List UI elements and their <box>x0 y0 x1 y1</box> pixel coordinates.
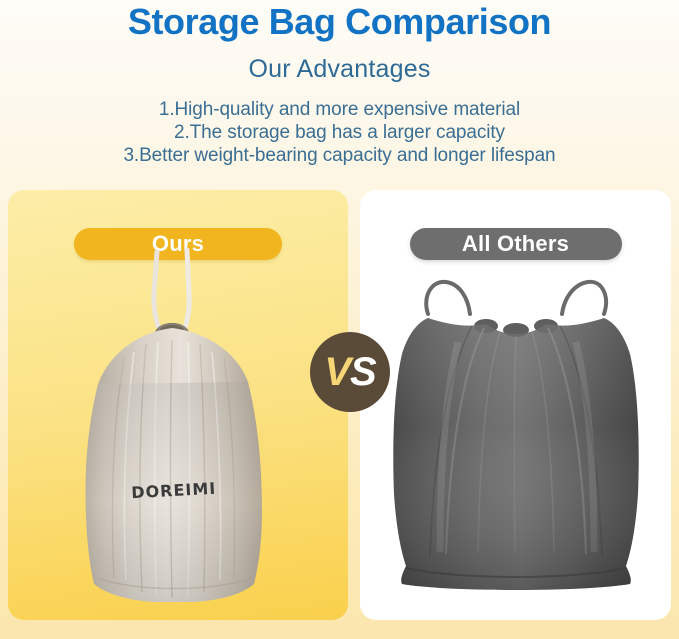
page-subtitle: Our Advantages <box>0 40 679 82</box>
versus-letter-v: V <box>324 350 350 395</box>
panel-ours: Ours <box>8 190 348 620</box>
page-title: Storage Bag Comparison <box>0 0 679 40</box>
versus-badge: V S <box>310 332 390 412</box>
advantage-item-2: 2.The storage bag has a larger capacity <box>0 121 679 144</box>
all-others-storage-bag-image <box>388 262 644 612</box>
panel-all-others: All Others <box>360 190 671 620</box>
comparison-infographic: Storage Bag Comparison Our Advantages 1.… <box>0 0 679 639</box>
versus-letter-s: S <box>350 350 376 395</box>
advantages-list: 1.High-quality and more expensive materi… <box>0 82 679 167</box>
ours-bag-stage: DOREIMI <box>8 190 348 620</box>
others-bag-stage <box>360 190 671 620</box>
header: Storage Bag Comparison Our Advantages 1.… <box>0 0 679 167</box>
ours-storage-bag-image: DOREIMI <box>54 248 304 608</box>
advantage-item-3: 3.Better weight-bearing capacity and lon… <box>0 144 679 167</box>
advantage-item-1: 1.High-quality and more expensive materi… <box>0 98 679 121</box>
